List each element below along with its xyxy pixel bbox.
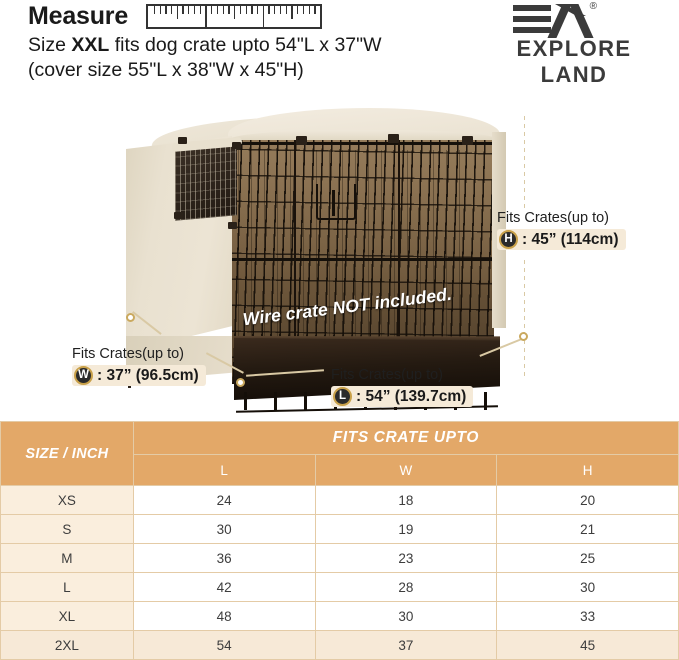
cover-buckle-3 <box>462 136 473 145</box>
cell-xl-w: 30 <box>315 602 497 631</box>
ruler-tick <box>251 6 252 14</box>
ruler-tick <box>303 6 304 14</box>
ruler-tick <box>280 6 281 14</box>
ruler-tick <box>165 6 166 14</box>
size-value: XXL <box>71 34 109 56</box>
cell-l-w: 28 <box>315 573 497 602</box>
callout-height-lead: Fits Crates(up to) <box>497 209 626 227</box>
ruler-icon <box>146 4 322 29</box>
size-prefix: Size <box>28 34 71 56</box>
cell-2xl-w: 37 <box>315 631 497 660</box>
cell-m-h: 25 <box>497 544 679 573</box>
logo-mark-icon: ® <box>485 2 663 36</box>
callout-length: Fits Crates(up to) L : 54” (139.7cm) <box>331 366 473 407</box>
cell-size-l: L <box>1 573 134 602</box>
cell-size-xs: XS <box>1 486 134 515</box>
size-suffix: fits dog crate upto 54"L x 37"W <box>109 34 381 56</box>
cell-s-h: 21 <box>497 515 679 544</box>
width-badge-icon: W <box>74 366 93 385</box>
height-guide-top <box>524 116 525 212</box>
registered-mark-icon: ® <box>590 1 597 12</box>
cell-2xl-h: 45 <box>497 631 679 660</box>
callout-height-text: : 45” (114cm) <box>522 231 619 249</box>
ruler-segment-divider <box>263 6 265 27</box>
ruler-tick <box>257 6 258 14</box>
table-row: XL483033 <box>1 602 679 631</box>
callout-length-lead: Fits Crates(up to) <box>331 366 473 384</box>
cell-xs-l: 24 <box>133 486 315 515</box>
size-description: Size XXL fits dog crate upto 54"L x 37"W <box>28 33 381 58</box>
cover-buckle-2 <box>388 134 399 143</box>
table-header-row-1: SIZE / INCH FITS CRATE UPTO <box>1 422 679 455</box>
ruler-tick <box>177 6 178 19</box>
table-row: 2XL543745 <box>1 631 679 660</box>
window-mesh <box>175 143 237 220</box>
cell-size-2xl: 2XL <box>1 631 134 660</box>
window-tab-right <box>228 222 237 229</box>
ruler-tick <box>234 6 235 19</box>
crate-latch-icon <box>316 184 356 220</box>
measure-row: Measure <box>28 2 322 31</box>
ruler-tick <box>223 6 224 14</box>
cover-buckle-1 <box>296 136 307 145</box>
ruler-tick <box>188 6 189 14</box>
cell-xl-l: 48 <box>133 602 315 631</box>
crate-foot <box>304 392 307 410</box>
cell-l-h: 30 <box>497 573 679 602</box>
size-chart-table: SIZE / INCH FITS CRATE UPTO LWH XS241820… <box>0 421 679 660</box>
table-row: L422830 <box>1 573 679 602</box>
cell-s-w: 19 <box>315 515 497 544</box>
ruler-tick <box>274 6 275 14</box>
ruler-tick <box>246 6 247 14</box>
cell-xs-h: 20 <box>497 486 679 515</box>
callout-height: Fits Crates(up to) H : 45” (114cm) <box>497 209 626 250</box>
flap-clip-left <box>178 137 187 144</box>
callout-length-text: : 54” (139.7cm) <box>356 388 466 406</box>
ruler-tick <box>314 6 315 14</box>
crate-mid-rail <box>232 258 494 261</box>
ruler-tick <box>194 6 195 14</box>
ruler-tick <box>228 6 229 14</box>
header-size-inch: SIZE / INCH <box>1 422 134 486</box>
header-col-l: L <box>133 455 315 486</box>
table-row: S301921 <box>1 515 679 544</box>
cell-2xl-l: 54 <box>133 631 315 660</box>
header: Measure Size XXL fits dog crate upto 54"… <box>0 0 679 110</box>
length-marker-right <box>519 332 528 341</box>
ruler-tick <box>297 6 298 14</box>
table-row: XS241820 <box>1 486 679 515</box>
table-body: XS241820S301921M362325L422830XL4830332XL… <box>1 486 679 660</box>
cell-m-l: 36 <box>133 544 315 573</box>
cover-window-opening <box>175 143 237 220</box>
crate-top-rail <box>232 142 494 145</box>
header-col-h: H <box>497 455 679 486</box>
cell-size-m: M <box>1 544 134 573</box>
ruler-tick <box>240 6 241 14</box>
ruler-tick <box>200 6 201 14</box>
callout-height-value: H : 45” (114cm) <box>497 229 626 250</box>
table-row: M362325 <box>1 544 679 573</box>
callout-width-value: W : 37” (96.5cm) <box>72 365 206 386</box>
logo-wordmark: EXPLORE LAND <box>485 36 663 88</box>
ruler-tick <box>309 6 310 14</box>
brand-logo: ® EXPLORE LAND <box>485 2 663 64</box>
cell-xs-w: 18 <box>315 486 497 515</box>
flap-clip-right <box>232 142 241 149</box>
ruler-tick <box>171 6 172 14</box>
ruler-tick <box>154 6 155 14</box>
crate-foot <box>274 392 277 410</box>
ruler-tick <box>291 6 292 19</box>
width-marker-right <box>236 378 245 387</box>
cell-s-l: 30 <box>133 515 315 544</box>
callout-width: Fits Crates(up to) W : 37” (96.5cm) <box>72 345 206 386</box>
product-infographic: Measure Size XXL fits dog crate upto 54"… <box>0 0 679 655</box>
ruler-tick <box>182 6 183 14</box>
cell-size-s: S <box>1 515 134 544</box>
width-marker-left <box>126 313 135 322</box>
page-title: Measure <box>28 2 128 31</box>
cell-size-xl: XL <box>1 602 134 631</box>
cell-xl-h: 33 <box>497 602 679 631</box>
cover-size-line: (cover size 55"L x 38"W x 45"H) <box>28 58 304 83</box>
callout-width-lead: Fits Crates(up to) <box>72 345 206 363</box>
length-badge-icon: L <box>333 387 352 406</box>
window-tab-left <box>174 212 183 219</box>
cell-m-w: 23 <box>315 544 497 573</box>
ruler-segment-divider <box>205 6 207 27</box>
height-guide-bottom <box>524 260 525 378</box>
crate-foot <box>244 392 247 410</box>
cell-l-l: 42 <box>133 573 315 602</box>
callout-length-value: L : 54” (139.7cm) <box>331 386 473 407</box>
header-col-w: W <box>315 455 497 486</box>
ruler-tick <box>217 6 218 14</box>
header-fits-crate-upto: FITS CRATE UPTO <box>133 422 678 455</box>
callout-width-text: : 37” (96.5cm) <box>97 367 199 385</box>
ruler-tick <box>268 6 269 14</box>
height-badge-icon: H <box>499 230 518 249</box>
ruler-tick <box>211 6 212 14</box>
ruler-tick <box>286 6 287 14</box>
ruler-tick <box>160 6 161 14</box>
crate-foot <box>484 392 487 410</box>
